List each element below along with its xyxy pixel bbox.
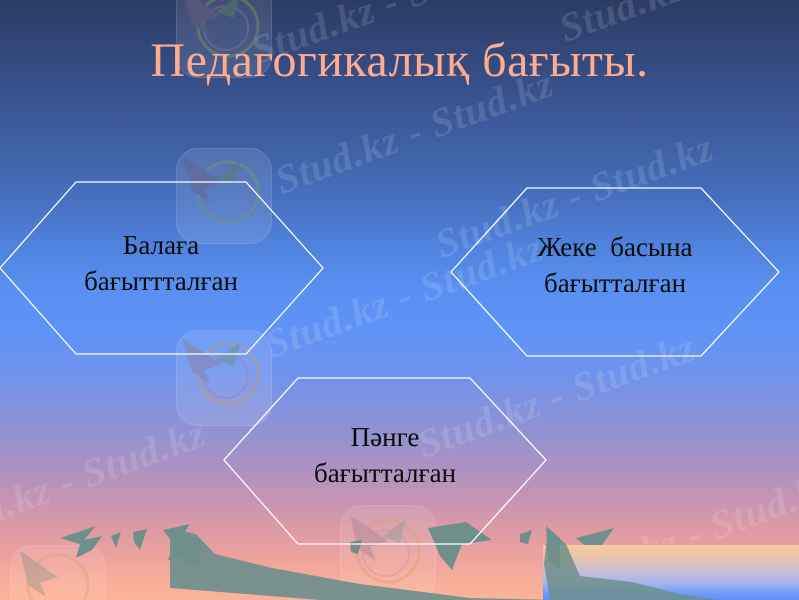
inset-gradient-panel xyxy=(543,545,799,600)
hexagon-personality-oriented-line1: Жеке басына xyxy=(451,230,779,266)
hexagon-subject-oriented-line1: Пәнге xyxy=(224,420,546,456)
presentation-slide: Stud.kz - Stud.kz Stud.kz - Stud.kz Stud… xyxy=(0,0,799,600)
hexagon-child-oriented-line1: Балаға xyxy=(0,228,322,264)
watermark-logo-icon xyxy=(10,545,106,600)
slide-title: Педагогикалық бағыты. xyxy=(0,36,799,86)
hexagon-subject-oriented-line2: бағытталған xyxy=(224,456,546,492)
hexagon-child-oriented-label: Балаға бағыттталған xyxy=(0,228,322,299)
hexagon-personality-oriented-label: Жеке басына бағытталған xyxy=(451,230,779,301)
hexagon-child-oriented-line2: бағыттталған xyxy=(0,264,322,300)
hexagon-personality-oriented-line2: бағытталған xyxy=(451,266,779,302)
hexagon-subject-oriented-label: Пәнге бағытталған xyxy=(224,420,546,491)
watermark-text: Stud.kz - Stud.kz xyxy=(0,409,212,553)
